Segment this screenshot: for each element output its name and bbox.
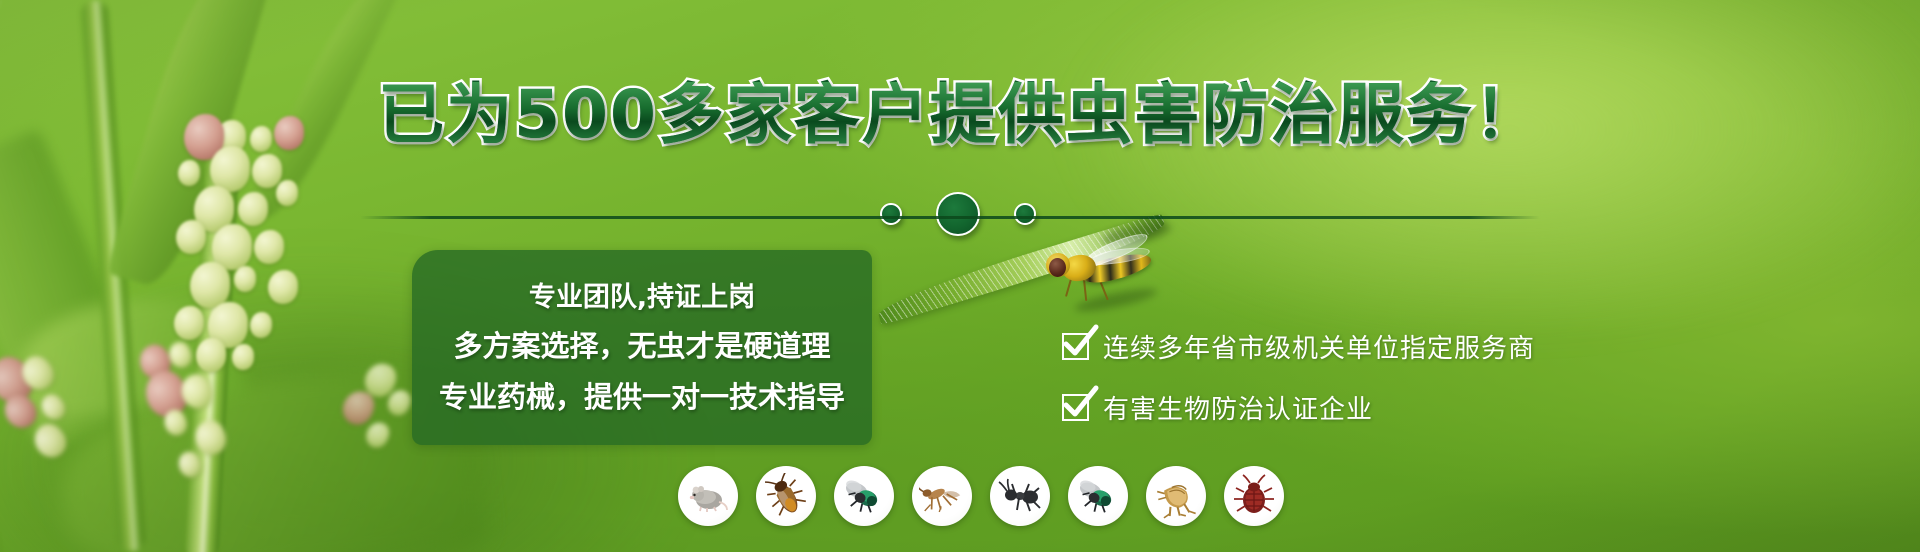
feature-line-3: 专业药械，提供一对一技术指导 [439,374,845,416]
page-title: 已为500多家客户提供虫害防治服务！ [0,82,1920,148]
pest-icon-cockroach[interactable] [756,466,816,526]
checkmark-icon [1062,333,1089,360]
hoverfly-photo [1040,245,1160,303]
credential-label: 有害生物防治认证企业 [1103,389,1373,426]
pest-icon-bedbug[interactable] [1224,466,1284,526]
checkmark-icon [1062,394,1089,421]
pest-icon-flea[interactable] [1146,466,1206,526]
pest-icon-mosquito[interactable] [912,466,972,526]
pest-icon-fly-2[interactable] [1068,466,1128,526]
feature-line-2: 多方案选择，无虫才是硬道理 [453,323,830,365]
pest-icon-mouse[interactable] [678,466,738,526]
promotional-banner: 已为500多家客户提供虫害防治服务！ 已为500多家客户提供虫害防治服务！ 专业… [0,0,1920,552]
decorative-dot-large-center [936,192,980,236]
feature-panel-text: 专业团队,持证上岗 多方案选择，无虫才是硬道理 专业药械，提供一对一技术指导 [412,250,872,445]
credential-label: 连续多年省市级机关单位指定服务商 [1103,328,1535,365]
feature-line-1: 专业团队,持证上岗 [529,275,755,314]
list-item: 连续多年省市级机关单位指定服务商 [1062,328,1535,365]
decorative-dot-row [880,192,1036,236]
pest-icon-ant[interactable] [990,466,1050,526]
credential-list: 连续多年省市级机关单位指定服务商 有害生物防治认证企业 [1062,328,1535,426]
decorative-dot-small-left [880,203,902,225]
pest-icon-fly[interactable] [834,466,894,526]
list-item: 有害生物防治认证企业 [1062,389,1535,426]
decorative-dot-small-right [1014,203,1036,225]
pest-icon-row [678,466,1284,526]
background-highlight-top-right [1060,0,1920,340]
divider-line [360,216,1540,219]
